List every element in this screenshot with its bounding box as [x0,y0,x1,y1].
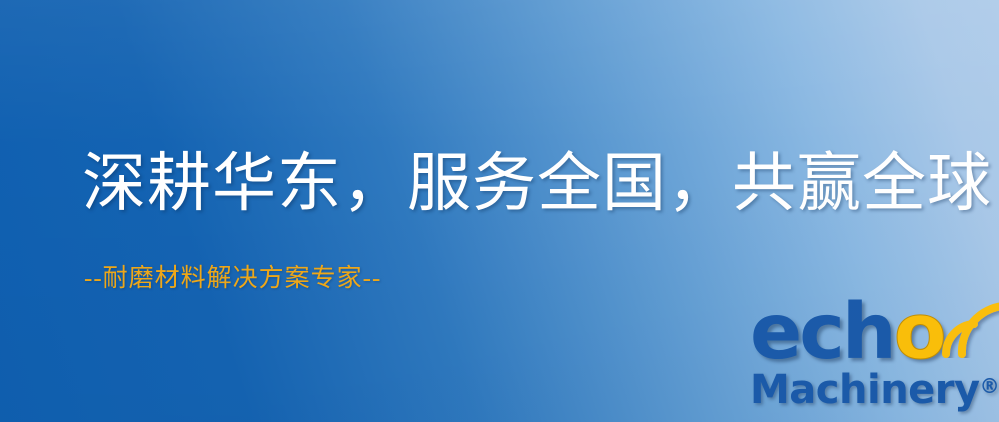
banner-subtitle: --耐磨材料解决方案专家-- [84,266,381,291]
logo-brand-text: echo [750,294,944,371]
company-logo: echo Machinery® [748,296,999,422]
logo-subbrand-label: Machinery [750,367,980,413]
hero-banner: 深耕华东，服务全国，共赢全球 --耐磨材料解决方案专家-- echo Machi… [0,0,999,422]
signal-waves-icon [928,292,999,358]
logo-wordmark: echo [748,296,999,376]
logo-subbrand-text: Machinery® [750,370,999,410]
banner-headline: 深耕华东，服务全国，共赢全球 [82,152,992,216]
registered-trademark-icon: ® [980,374,999,398]
logo-brand-prefix: ech [750,288,894,377]
